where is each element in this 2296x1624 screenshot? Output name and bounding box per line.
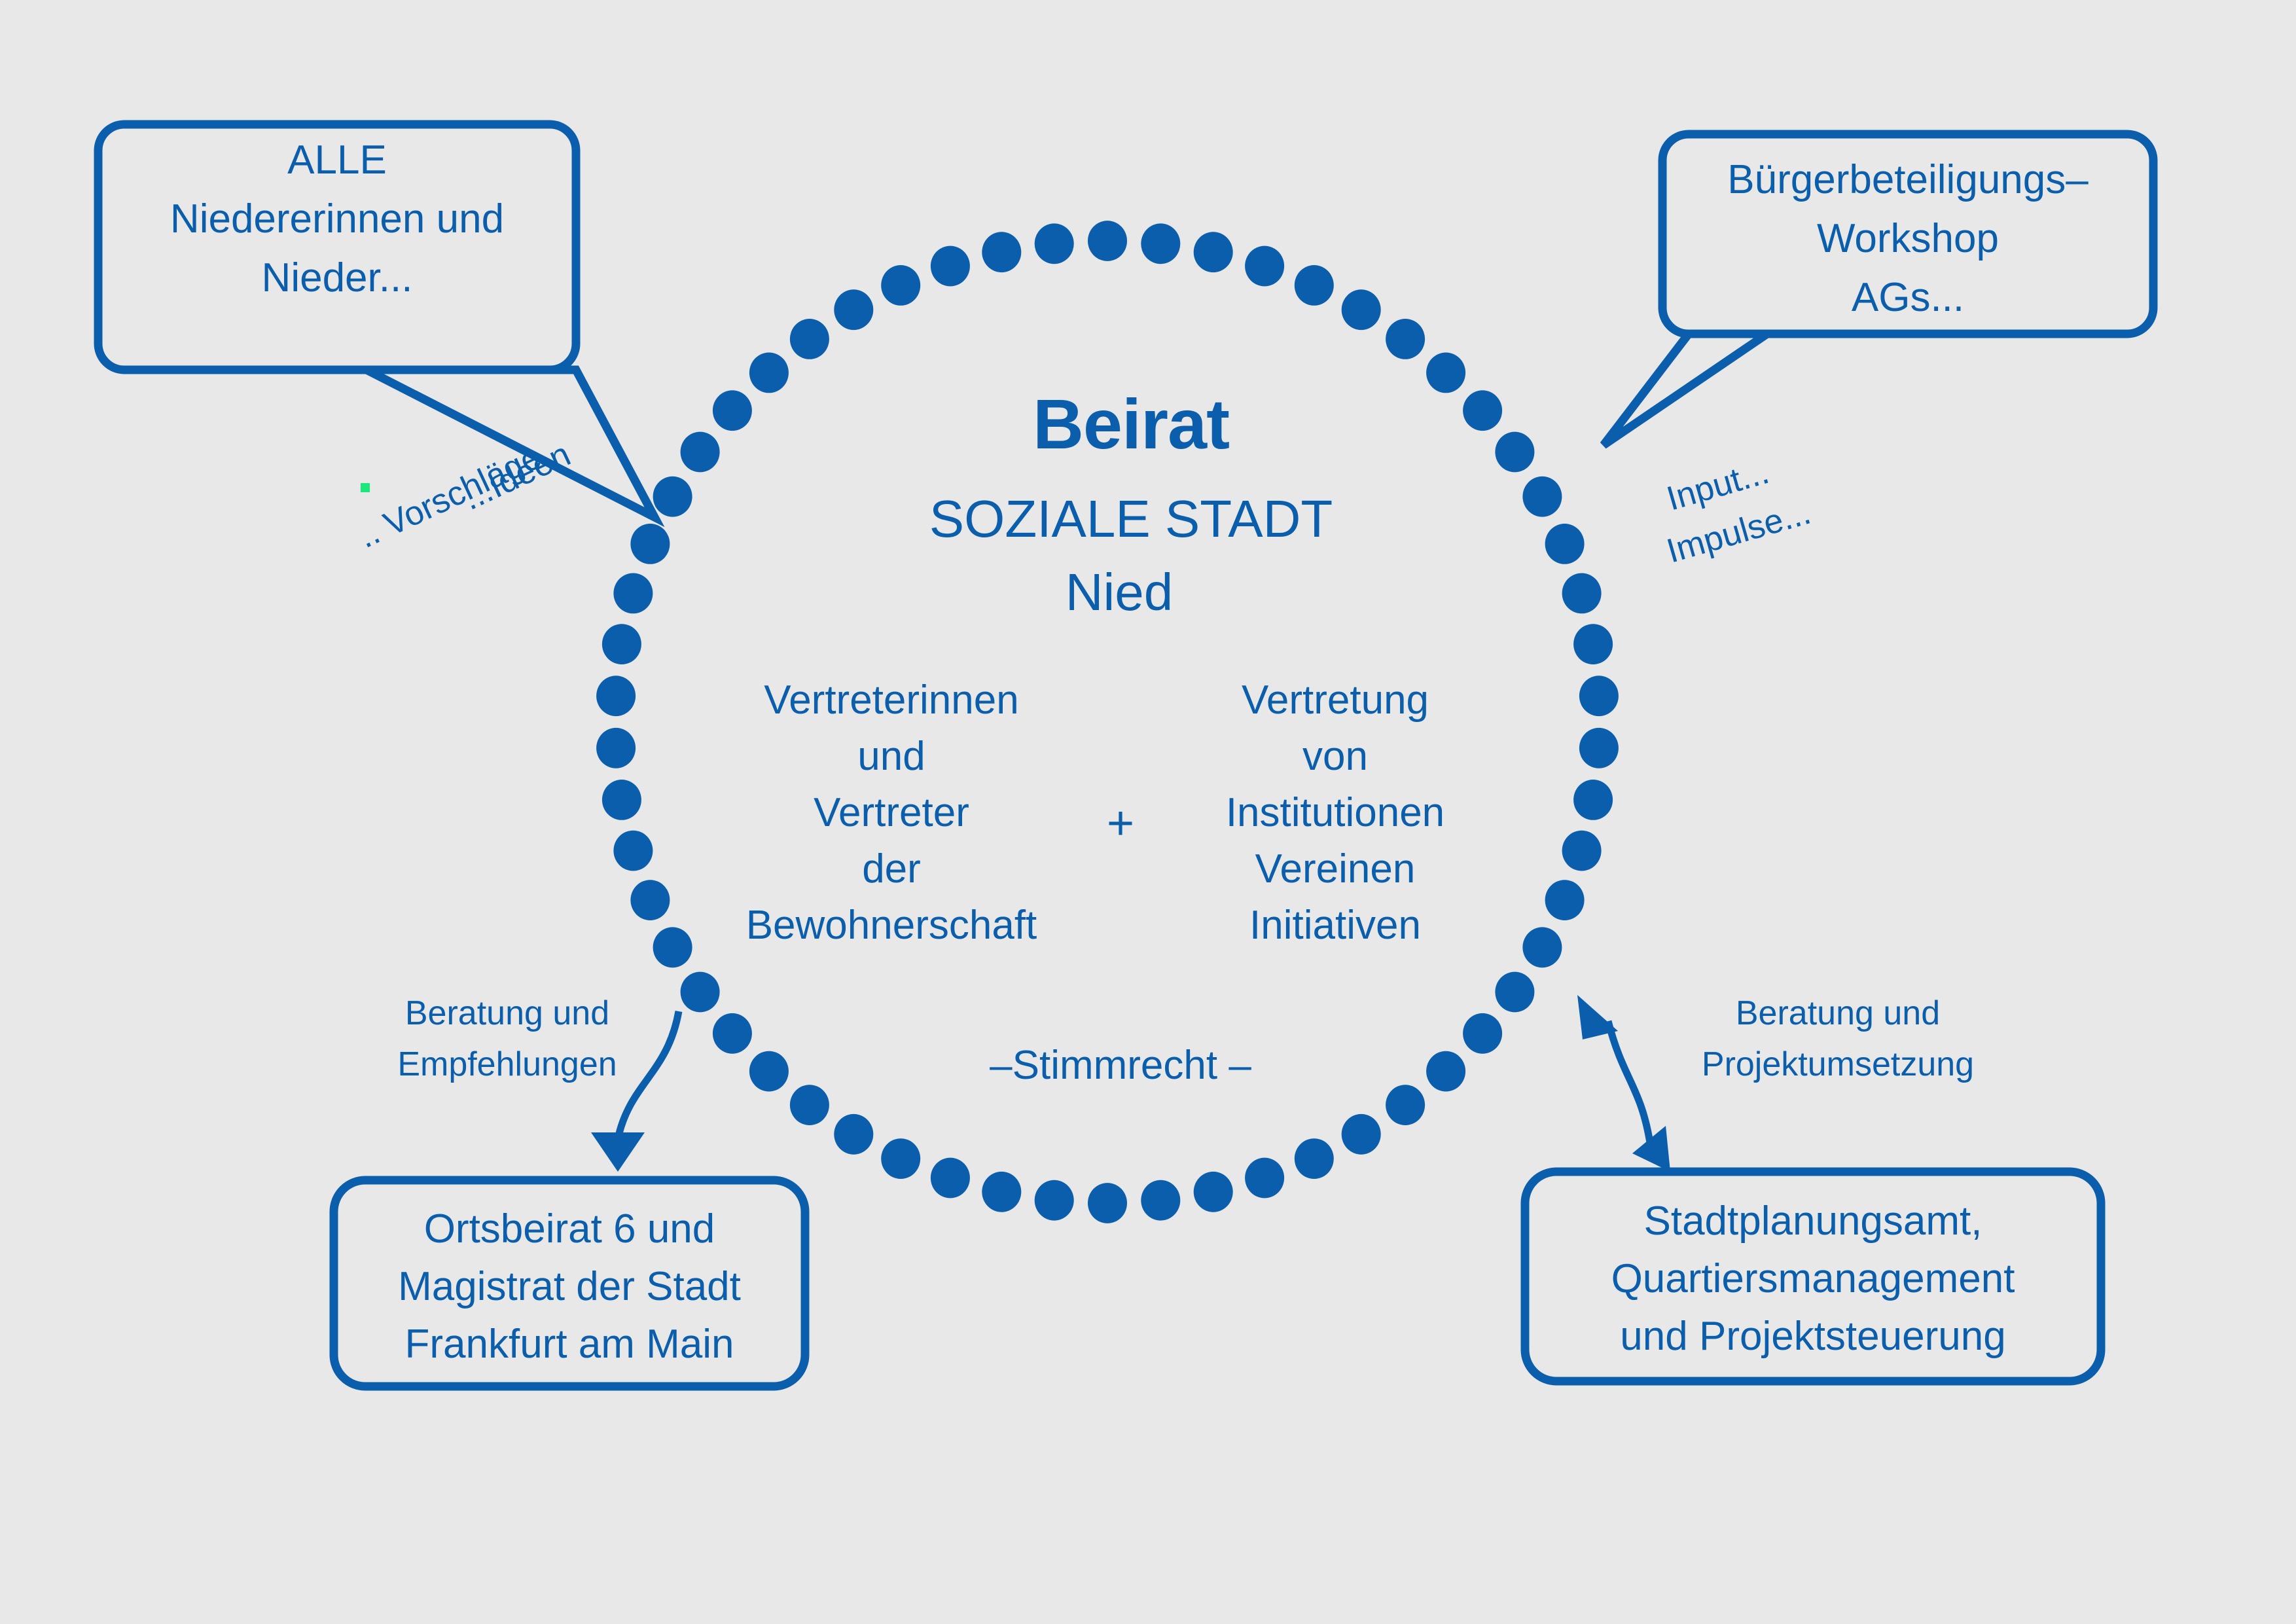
- ring-dot: [931, 246, 970, 287]
- box-left-line-3: Frankfurt am Main: [404, 1322, 734, 1367]
- stimmrecht-note: –Stimmrecht –: [990, 1043, 1251, 1088]
- ring-dot: [1194, 1172, 1233, 1212]
- annot-beratung-empfehlungen-2: Empfehlungen: [397, 1045, 617, 1083]
- ring-dot: [834, 289, 873, 330]
- right-col-line-1: Vertretung: [1242, 677, 1429, 723]
- center-subtitle-1: SOZIALE STADT: [929, 490, 1333, 548]
- ring-dot: [931, 1158, 970, 1199]
- ring-dot: [1386, 1085, 1425, 1125]
- page-title: Beirat: [1033, 384, 1229, 463]
- ring-dot: [1579, 728, 1619, 768]
- green-artifact-pixel: [361, 483, 370, 492]
- ring-dot: [1463, 1013, 1502, 1054]
- right-col-line-5: Initiativen: [1249, 903, 1421, 948]
- ring-dot: [1295, 265, 1334, 306]
- speech-bubble-top-right[interactable]: Bürgerbeteiligungs– Workshop AGs...: [1604, 134, 2153, 445]
- bubble-left-line-1: ALLE: [287, 137, 387, 183]
- ring-dot: [1545, 880, 1585, 920]
- ring-dot: [749, 1051, 789, 1092]
- ring-dot: [834, 1114, 873, 1155]
- ring-dot: [653, 927, 692, 967]
- box-right-line-2: Quartiersmanagement: [1611, 1256, 2015, 1301]
- ring-dot: [713, 1013, 752, 1054]
- ring-dot: [1141, 1180, 1180, 1221]
- ring-dot: [613, 573, 653, 614]
- annot-beratung-empfehlungen-1: Beratung und: [405, 994, 609, 1032]
- arrow-head-down-left: [591, 1132, 645, 1172]
- ring-dot: [613, 831, 653, 871]
- bubble-right-line-1: Bürgerbeteiligungs–: [1727, 157, 2089, 202]
- ring-dot: [1426, 353, 1465, 393]
- annot-beratung-projekt-1: Beratung und: [1736, 994, 1940, 1032]
- diagram-svg: ALLE Niedererinnen und Nieder... Bürgerb…: [0, 0, 2296, 1624]
- ring-dot: [596, 728, 636, 768]
- ring-dot: [602, 780, 641, 820]
- ring-dot: [1522, 477, 1562, 517]
- ring-dot: [1088, 1183, 1127, 1223]
- center-subtitle-2: Nied: [1066, 563, 1174, 621]
- right-col-line-3: Institutionen: [1226, 790, 1444, 835]
- ring-dot: [1426, 1051, 1465, 1092]
- left-col-line-1: Vertreterinnen: [764, 677, 1018, 723]
- ring-dot: [630, 880, 670, 920]
- ring-dot: [1342, 1114, 1381, 1155]
- box-left-line-1: Ortsbeirat 6 und: [424, 1206, 715, 1252]
- ring-dot: [982, 232, 1021, 272]
- ring-dot: [1562, 573, 1602, 614]
- ring-dot: [1295, 1138, 1334, 1179]
- ring-dot: [1035, 1180, 1074, 1221]
- ring-dot: [790, 319, 829, 359]
- ring-dot: [1035, 223, 1074, 264]
- arrow-curve-left: [618, 1011, 679, 1139]
- ring-dot: [881, 1138, 920, 1179]
- ring-dot: [1245, 246, 1284, 287]
- ring-dot: [602, 624, 641, 664]
- bubble-right-line-3: AGs...: [1852, 275, 1964, 320]
- right-col-line-2: von: [1302, 734, 1368, 779]
- ring-dot: [790, 1085, 829, 1125]
- ring-dot: [749, 353, 789, 393]
- ring-dot: [1342, 289, 1381, 330]
- left-col-line-2: und: [857, 734, 925, 779]
- ring-dot: [1562, 831, 1602, 871]
- arrow-beratung-empfehlungen: [591, 1011, 679, 1172]
- speech-bubble-top-left[interactable]: ALLE Niedererinnen und Nieder...: [98, 124, 655, 517]
- plus-operator: +: [1107, 797, 1134, 850]
- arrow-curve-right: [1608, 1021, 1651, 1147]
- ring-dot: [1386, 319, 1425, 359]
- bubble-left-line-3: Nieder...: [262, 255, 413, 300]
- ring-dot: [596, 676, 636, 716]
- members-right-column: Vertretung von Institutionen Vereinen In…: [1226, 677, 1444, 948]
- ring-dot: [1495, 972, 1534, 1013]
- left-col-line-4: der: [862, 846, 921, 892]
- diagram-canvas: ALLE Niedererinnen und Nieder... Bürgerb…: [0, 0, 2296, 1624]
- ring-dot: [681, 972, 720, 1013]
- ring-dot: [1194, 232, 1233, 272]
- box-left-line-2: Magistrat der Stadt: [398, 1264, 741, 1309]
- right-col-line-4: Vereinen: [1255, 846, 1416, 892]
- ring-dot: [1573, 624, 1613, 664]
- ring-dot: [1579, 676, 1619, 716]
- box-bottom-left[interactable]: Ortsbeirat 6 und Magistrat der Stadt Fra…: [334, 1180, 805, 1386]
- ring-dot: [1463, 390, 1502, 431]
- ring-dot: [1088, 221, 1127, 261]
- bubble-outline-left: [98, 124, 655, 517]
- ring-dot: [713, 390, 752, 431]
- left-col-line-3: Vertreter: [814, 790, 969, 835]
- ring-dot: [1522, 927, 1562, 967]
- ring-dot: [1545, 524, 1585, 564]
- arrow-beratung-projektumsetzung: [1577, 995, 1670, 1172]
- ring-dot: [1141, 223, 1180, 264]
- annot-beratung-projekt-2: Projektumsetzung: [1702, 1045, 1974, 1083]
- ring-dot: [1245, 1158, 1284, 1199]
- ring-dot: [982, 1172, 1021, 1212]
- left-col-line-5: Bewohnerschaft: [746, 903, 1037, 948]
- bubble-left-line-2: Niedererinnen und: [170, 196, 504, 242]
- ring-dot: [681, 432, 720, 473]
- bubble-right-line-2: Workshop: [1817, 216, 1999, 261]
- box-right-line-1: Stadtplanungsamt,: [1643, 1199, 1982, 1244]
- ring-dot: [1573, 780, 1613, 820]
- ring-dot: [881, 265, 920, 306]
- members-left-column: Vertreterinnen und Vertreter der Bewohne…: [746, 677, 1037, 948]
- box-bottom-right[interactable]: Stadtplanungsamt, Quartiersmanagement un…: [1525, 1172, 2101, 1381]
- ring-dot: [630, 524, 670, 564]
- ring-dot: [653, 477, 692, 517]
- ring-dot: [1495, 432, 1534, 473]
- box-right-line-3: und Projektsteuerung: [1620, 1314, 2005, 1359]
